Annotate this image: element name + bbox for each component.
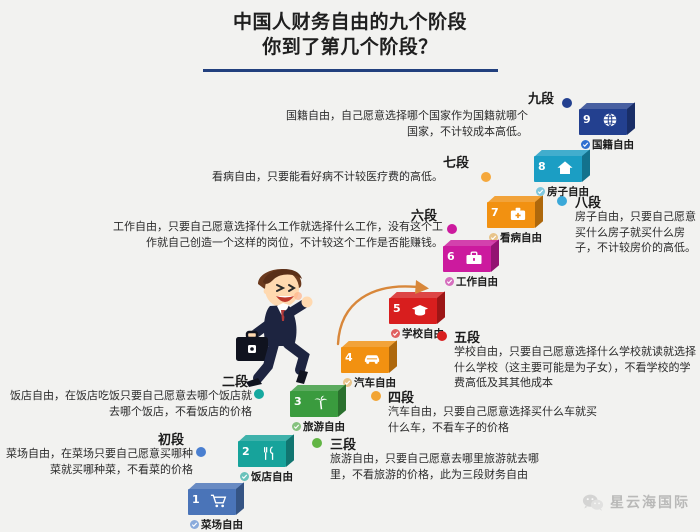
check-icon xyxy=(445,277,454,286)
running-businessman-illustration xyxy=(222,258,342,393)
cube-side-face xyxy=(236,482,244,515)
page-title: 中国人财务自由的九个阶段 你到了第几个阶段？ xyxy=(0,10,700,72)
house-icon xyxy=(554,159,576,178)
stage-1-description: 菜场自由，在菜场只要自己愿意买哪种菜就买哪种菜，不看菜的价格 xyxy=(3,446,193,477)
stage-9-rank: 九段 xyxy=(528,88,554,107)
stage-8-dot xyxy=(557,196,567,206)
watermark-text: 星云海国际 xyxy=(610,492,690,512)
stage-9-label: 国籍自由 xyxy=(592,139,634,151)
check-icon xyxy=(240,472,249,481)
stage-6-cube[interactable]: 6 工作自由 xyxy=(443,240,499,272)
stage-1-label: 菜场自由 xyxy=(201,519,243,531)
cube-side-face xyxy=(627,102,635,135)
watermark: 星云海国际 xyxy=(582,492,690,512)
stage-3-label: 旅游自由 xyxy=(303,421,345,433)
stage-2-label-wrap: 饭店自由 xyxy=(240,469,293,484)
check-icon xyxy=(581,140,590,149)
check-icon xyxy=(536,187,545,196)
cube-side-face xyxy=(491,239,499,272)
cube-side-face xyxy=(535,195,543,228)
stage-6-label: 工作自由 xyxy=(456,276,498,288)
stage-4-number: 4 xyxy=(345,352,353,364)
check-icon xyxy=(292,422,301,431)
stage-7-dot xyxy=(481,172,491,182)
stage-3-description: 旅游自由，只要自己愿意去哪里旅游就去哪里，不看旅游的价格，此为三段财务自由 xyxy=(330,451,540,482)
briefcase-icon xyxy=(463,249,485,268)
globe-icon xyxy=(599,112,621,131)
stage-9-cube[interactable]: 9 国籍自由 xyxy=(579,103,635,135)
shopping-cart-icon xyxy=(208,492,230,511)
stage-3-label-wrap: 旅游自由 xyxy=(292,419,345,434)
restaurant-icon xyxy=(258,444,280,463)
stage-8-number: 8 xyxy=(538,161,546,173)
check-icon xyxy=(190,520,199,529)
stage-2-label: 饭店自由 xyxy=(251,471,293,483)
stage-5-description: 学校自由，只要自己愿意选择什么学校就读就选择什么学校（这主要可能是为子女），不看… xyxy=(454,344,697,391)
stage-6-description: 工作自由，只要自己愿意选择什么工作就选择什么工作，没有这个工作就自己创造一个这样… xyxy=(110,219,443,250)
wechat-icon xyxy=(582,493,604,512)
infographic-canvas: 中国人财务自由的九个阶段 你到了第几个阶段？ 九段 国籍自由，自己愿意选择哪个国… xyxy=(0,0,700,526)
stage-7-rank: 七段 xyxy=(443,152,469,171)
cube-side-face xyxy=(582,149,590,182)
stage-4-dot xyxy=(371,391,381,401)
palm-tree-icon xyxy=(310,394,332,413)
medical-kit-icon xyxy=(507,205,529,224)
stage-1-label-wrap: 菜场自由 xyxy=(190,517,243,532)
cube-side-face xyxy=(286,434,294,467)
stage-7-cube[interactable]: 7 看病自由 xyxy=(487,196,543,228)
stage-2-number: 2 xyxy=(242,446,250,458)
title-line-1: 中国人财务自由的九个阶段 xyxy=(0,10,700,35)
stage-1-dot xyxy=(196,447,206,457)
stage-7-number: 7 xyxy=(491,207,499,219)
stage-3-dot xyxy=(312,438,322,448)
stage-3-number: 3 xyxy=(294,396,302,408)
stage-7-description: 看病自由，只要能看好病不计较医疗费的高低。 xyxy=(200,169,443,185)
stage-2-cube[interactable]: 2 饭店自由 xyxy=(238,435,294,467)
stage-9-dot xyxy=(562,98,572,108)
stage-6-label-wrap: 工作自由 xyxy=(445,274,498,289)
stage-4-description: 汽车自由，只要自己愿意选择买什么车就买什么车，不看车子的价格 xyxy=(388,404,600,435)
title-divider xyxy=(203,69,498,72)
stage-2-description: 饭店自由，在饭店吃饭只要自己愿意去哪个饭店就去哪个饭店，不看饭店的价格 xyxy=(3,388,252,419)
stage-8-description: 房子自由，只要自己愿意买什么房子就买什么房子，不计较房价的高低。 xyxy=(575,209,697,256)
stage-6-dot xyxy=(447,224,457,234)
title-line-2: 你到了第几个阶段？ xyxy=(0,35,700,60)
stage-9-number: 9 xyxy=(583,114,591,126)
graduation-cap-icon xyxy=(409,301,431,320)
stage-7-label: 看病自由 xyxy=(500,232,542,244)
stage-5-number: 5 xyxy=(393,303,401,315)
car-icon xyxy=(361,350,383,369)
stage-6-number: 6 xyxy=(447,251,455,263)
stage-1-cube[interactable]: 1 菜场自由 xyxy=(188,483,244,515)
stage-1-number: 1 xyxy=(192,494,200,506)
stage-8-cube[interactable]: 8 房子自由 xyxy=(534,150,590,182)
stage-9-description: 国籍自由，自己愿意选择哪个国家作为国籍就哪个国家，不计较成本高低。 xyxy=(278,108,528,139)
